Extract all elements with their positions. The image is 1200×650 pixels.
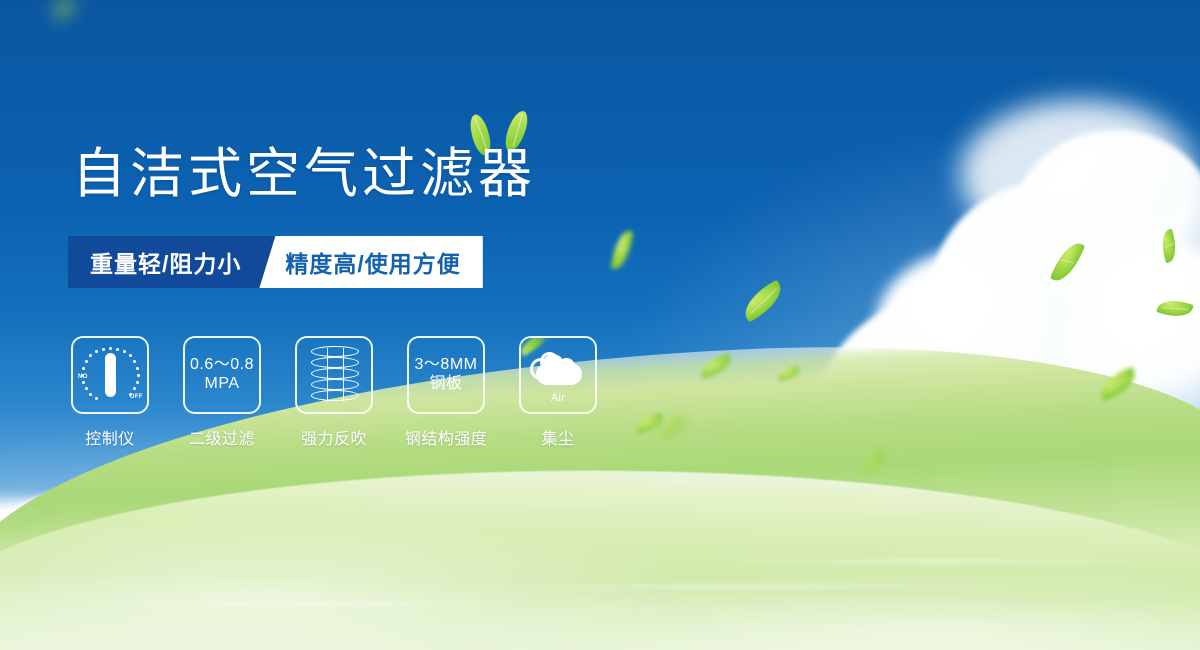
steel-line-2: 钢板 xyxy=(415,375,478,394)
feature-item-two-stage-filter[interactable]: 0.6～0.8 MPA 二级过滤 xyxy=(184,336,260,449)
subtitle-right-panel: 精度高/使用方便 xyxy=(259,236,482,288)
feature-label: 强力反吹 xyxy=(301,425,367,449)
feature-item-control-instrument[interactable]: NO OFF 控制仪 xyxy=(72,336,148,449)
grass-streak xyxy=(40,602,560,605)
pressure-text-icon: 0.6～0.8 MPA xyxy=(190,356,254,394)
feature-icon-box: 0.6～0.8 MPA xyxy=(183,336,261,414)
pressure-line-2: MPA xyxy=(190,375,254,394)
feature-label: 集尘 xyxy=(541,425,574,449)
gauge-needle xyxy=(105,353,116,397)
feature-icon-box xyxy=(295,336,373,414)
air-cloud-icon: Air xyxy=(528,349,588,401)
gauge-icon: NO OFF xyxy=(79,344,141,406)
air-label: Air xyxy=(528,392,588,404)
grass-streak xyxy=(420,585,1040,588)
feature-icon-box: 3～8MM 钢板 xyxy=(407,336,485,414)
feature-icon-box: NO OFF xyxy=(71,336,149,414)
feature-label: 钢结构强度 xyxy=(405,425,488,449)
feature-list: NO OFF 控制仪 0.6～0.8 MPA 二级过滤 xyxy=(72,336,596,449)
gauge-off-label: OFF xyxy=(130,394,143,400)
feature-item-steel-strength[interactable]: 3～8MM 钢板 钢结构强度 xyxy=(408,336,484,449)
steel-line-1: 3～8MM xyxy=(415,356,478,375)
grass-streak xyxy=(700,560,1180,563)
product-banner: 自洁式空气过滤器 重量轻/阻力小 精度高/使用方便 xyxy=(0,0,1200,650)
feature-label: 二级过滤 xyxy=(189,425,255,449)
feature-label: 控制仪 xyxy=(85,425,135,449)
feature-item-dust-collection[interactable]: Air 集尘 xyxy=(520,336,596,449)
filter-stack-icon xyxy=(308,346,360,404)
steel-plate-text-icon: 3～8MM 钢板 xyxy=(415,356,478,394)
feature-icon-box: Air xyxy=(519,336,597,414)
subtitle-left-panel: 重量轻/阻力小 xyxy=(68,236,275,288)
gauge-no-label: NO xyxy=(78,374,88,380)
subtitle-bar: 重量轻/阻力小 精度高/使用方便 xyxy=(68,236,483,288)
page-title: 自洁式空气过滤器 xyxy=(72,147,536,201)
feature-item-strong-blowback[interactable]: 强力反吹 xyxy=(296,336,372,449)
pressure-line-1: 0.6～0.8 xyxy=(190,356,254,375)
